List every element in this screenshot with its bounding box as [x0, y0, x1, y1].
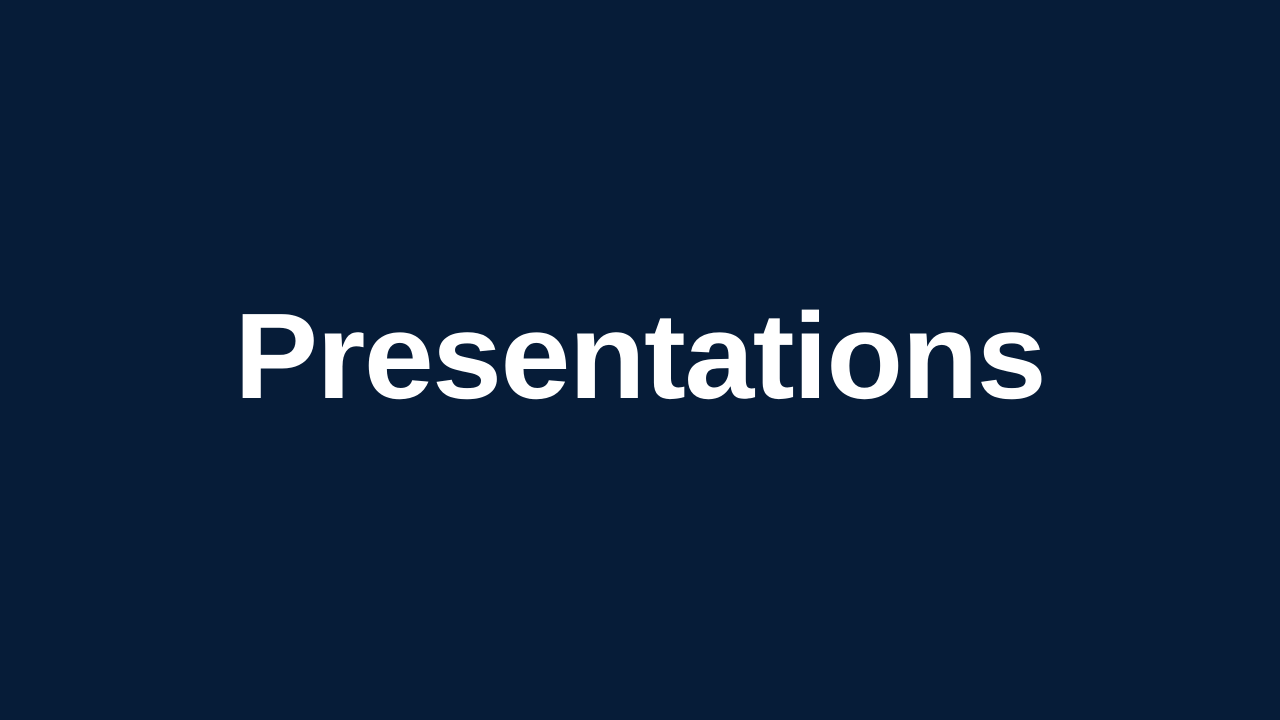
presentation-slide: Presentations: [0, 0, 1280, 720]
slide-title: Presentations: [235, 295, 1046, 417]
title-block: Presentations: [246, 295, 1033, 417]
title-stage: Presentations: [0, 0, 1280, 720]
